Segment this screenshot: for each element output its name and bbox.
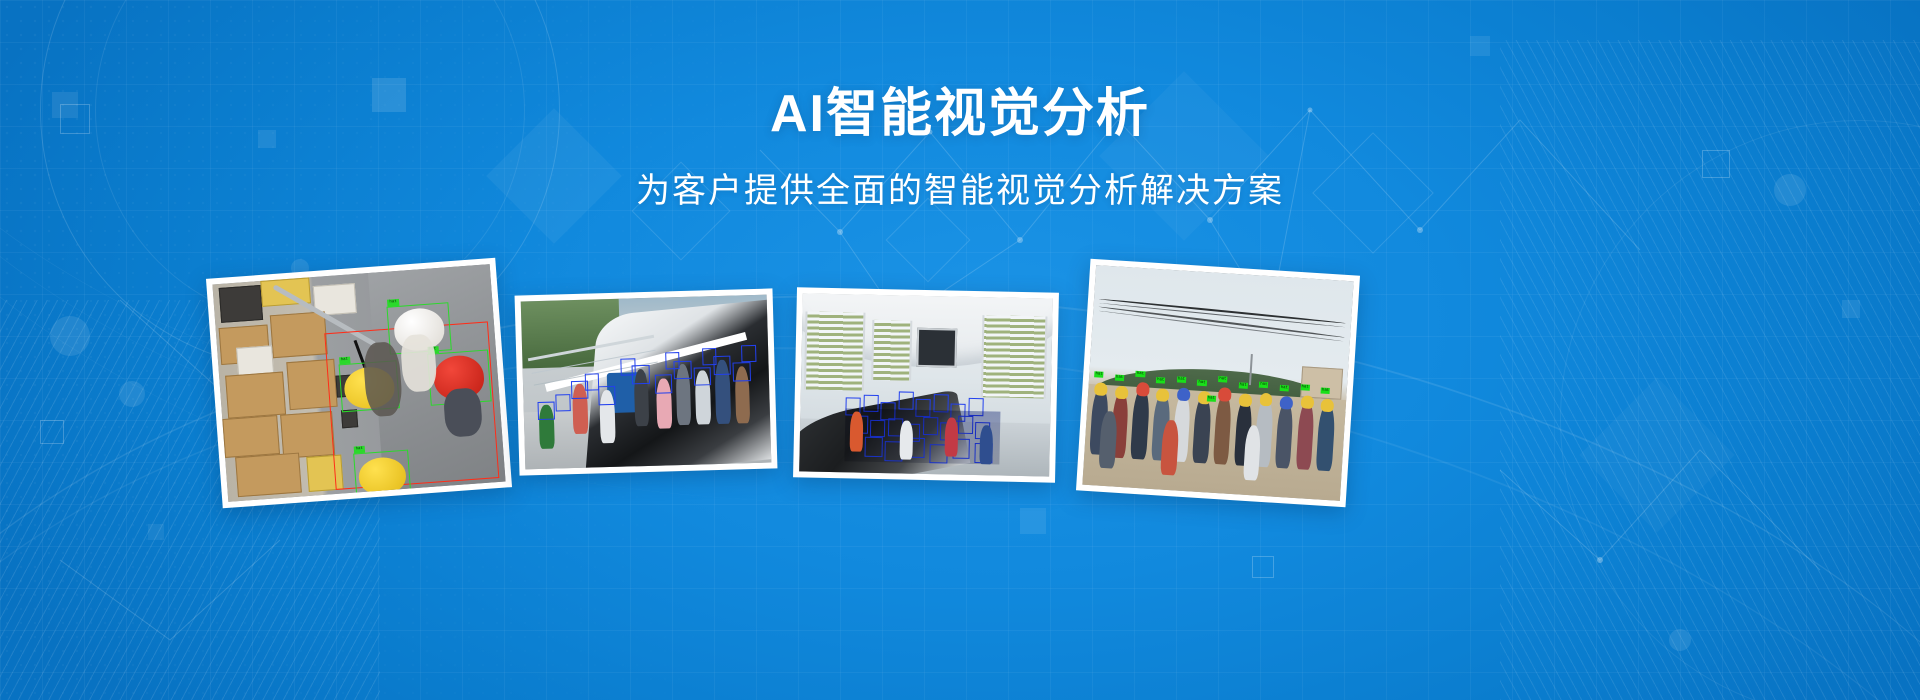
photo-thumbnail: hat hat hat hat hat hat — [1082, 265, 1353, 501]
detection-label: hat — [1156, 377, 1166, 384]
photo-thumbnail — [799, 293, 1053, 476]
detection-label: hat — [1206, 396, 1216, 403]
gallery-card-outdoor-group-hat-detection[interactable]: hat hat hat hat hat hat — [1076, 259, 1360, 507]
photo-thumbnail: hat hat hat hat — [212, 264, 505, 502]
page-title: AI智能视觉分析 — [0, 86, 1920, 143]
gallery-card-station-concourse-crowd-detection[interactable] — [793, 287, 1059, 482]
detection-box-face — [654, 375, 672, 394]
detection-label: hat — [1300, 384, 1310, 391]
detection-label: hat — [1259, 381, 1269, 388]
page-subtitle: 为客户提供全面的智能视觉分析解决方案 — [0, 171, 1920, 212]
hero-banner: AI智能视觉分析 为客户提供全面的智能视觉分析解决方案 — [0, 0, 1920, 700]
detection-box-face — [621, 359, 636, 376]
detection-box-face — [733, 362, 751, 381]
photo-thumbnail — [521, 295, 772, 470]
detection-label: hat — [1218, 376, 1228, 383]
photo-gallery: hat hat hat hat — [0, 258, 1920, 528]
detection-label: hat — [387, 299, 399, 307]
banner-text-block: AI智能视觉分析 为客户提供全面的智能视觉分析解决方案 — [0, 86, 1920, 212]
detection-label: hat — [1321, 387, 1331, 394]
detection-box-face — [555, 394, 570, 411]
detection-label: hat — [1238, 382, 1248, 389]
detection-label: hat — [1280, 385, 1290, 392]
detection-label: hat — [1136, 371, 1146, 378]
gallery-card-train-platform-face-detection[interactable] — [515, 288, 778, 475]
detection-box-face — [694, 367, 712, 386]
detection-label: hat — [353, 446, 365, 454]
detection-label: hat — [339, 357, 351, 365]
detection-label: hat — [1197, 380, 1207, 387]
detection-box-face — [598, 386, 616, 405]
gallery-card-warehouse-helmet-detection[interactable]: hat hat hat hat — [206, 258, 512, 509]
detection-box-face — [584, 373, 599, 390]
detection-box-face — [537, 401, 555, 420]
detection-label: hat — [1115, 374, 1125, 381]
detection-label: hat — [1177, 376, 1187, 383]
detection-box-face — [665, 352, 680, 369]
detection-box-face — [741, 345, 756, 362]
detection-box-face — [702, 348, 717, 365]
detection-label: hat — [1094, 371, 1104, 378]
